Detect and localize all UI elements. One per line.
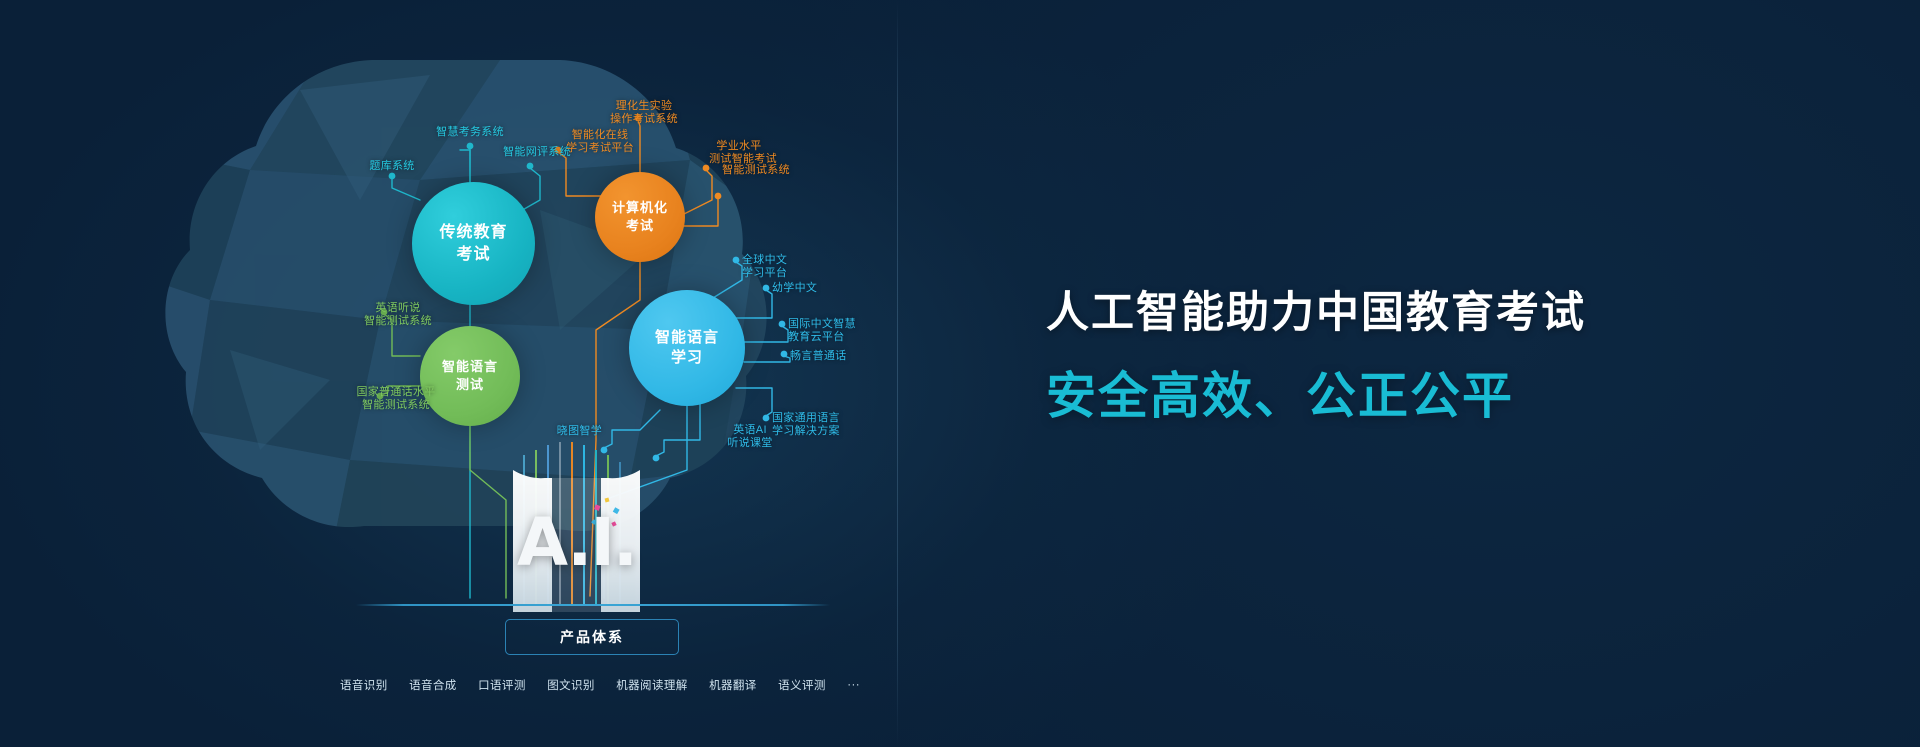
headline-secondary: 安全高效、公正公平: [1046, 366, 1726, 426]
bubble-lang-learn-line1: 智能语言: [655, 329, 719, 346]
tag-machine-reading-comprehension[interactable]: 机器阅读理解: [616, 677, 687, 693]
tag-speech-synthesis[interactable]: 语音合成: [409, 677, 457, 693]
tag-oral-evaluation[interactable]: 口语评测: [478, 677, 526, 693]
bubble-lang-test-line1: 智能语言: [442, 359, 498, 374]
bubble-lang-learn-line2: 学习: [671, 349, 703, 366]
ground-line: [356, 604, 830, 606]
panel-divider: [897, 0, 898, 747]
brain-infographic-panel: 传统教育 考试 计算机化 考试 智能语言 测试 智能语言 学习 智慧考务系统 智…: [0, 0, 897, 747]
bubble-computerized-line1: 计算机化: [612, 200, 668, 215]
tag-speech-recognition[interactable]: 语音识别: [340, 677, 388, 693]
capability-tag-row: 语音识别 语音合成 口语评测 图文识别 机器阅读理解 机器翻译 语义评测 ···: [340, 677, 860, 693]
tag-image-text-recognition[interactable]: 图文识别: [547, 677, 595, 693]
bubble-lang-test-line2: 测试: [456, 377, 484, 392]
bubble-traditional-line2: 考试: [456, 246, 490, 263]
bubble-computerized-exam[interactable]: 计算机化 考试: [595, 172, 685, 262]
tag-machine-translation[interactable]: 机器翻译: [709, 677, 757, 693]
bubble-computerized-line2: 考试: [626, 218, 654, 233]
tag-more-ellipsis[interactable]: ···: [847, 679, 860, 691]
bubble-intelligent-language-testing[interactable]: 智能语言 测试: [420, 326, 520, 426]
product-system-button[interactable]: 产品体系: [505, 619, 679, 655]
banner-stage: 传统教育 考试 计算机化 考试 智能语言 测试 智能语言 学习 智慧考务系统 智…: [0, 0, 1920, 747]
bubble-traditional-line1: 传统教育: [439, 224, 507, 241]
tag-semantic-evaluation[interactable]: 语义评测: [778, 677, 826, 693]
headline-primary: 人工智能助力中国教育考试: [1046, 288, 1726, 340]
bubble-intelligent-language-learning[interactable]: 智能语言 学习: [629, 290, 745, 406]
headline-block: 人工智能助力中国教育考试 安全高效、公正公平: [1046, 288, 1726, 426]
bubble-traditional-education-exam[interactable]: 传统教育 考试: [412, 182, 535, 305]
